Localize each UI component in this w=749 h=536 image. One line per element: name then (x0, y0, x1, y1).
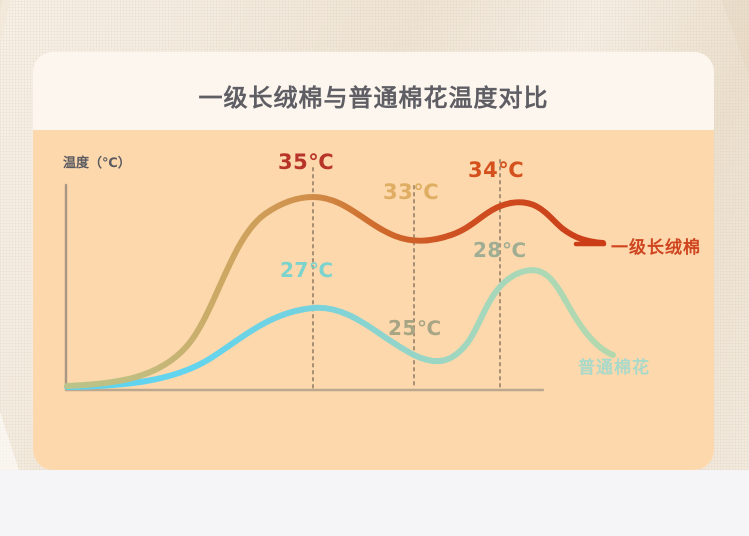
page-background (0, 470, 749, 536)
legend-label-ordinary-cotton: 普通棉花 (578, 353, 650, 378)
value-label-hot-13min: 35℃ (278, 150, 334, 174)
value-label-cool-18min: 25℃ (388, 316, 442, 340)
chart-card: 一级长绒棉与普通棉花温度对比 (33, 52, 714, 470)
legend-label-long-staple-cotton: 一级长绒棉 (611, 233, 701, 258)
value-label-cool-13min: 27℃ (280, 258, 334, 282)
chart-plot-area: 温度（℃） 13min 18min 23min 时间 35℃ 33℃ 34℃ 2… (33, 130, 714, 470)
card-header: 一级长绒棉与普通棉花温度对比 (33, 52, 714, 130)
y-axis-caption: 温度（℃） (63, 152, 131, 171)
temperature-line-chart (33, 130, 714, 470)
series-line-long-staple-cotton (67, 197, 603, 386)
value-label-hot-18min: 33℃ (383, 180, 439, 204)
value-label-cool-23min: 28℃ (473, 238, 527, 262)
page-title: 一级长绒棉与普通棉花温度对比 (33, 78, 714, 113)
value-label-hot-23min: 34℃ (468, 158, 524, 182)
